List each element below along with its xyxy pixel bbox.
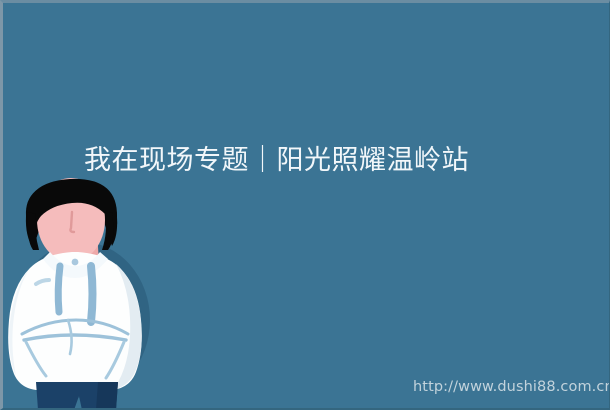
illustration-young-man-in-white-hoodie	[0, 170, 175, 410]
collar-button	[72, 259, 79, 266]
article-banner: 我在现场专题｜阳光照耀温岭站 http://www.dushi88.com.cn	[0, 0, 610, 410]
site-watermark-url: http://www.dushi88.com.cn	[413, 379, 610, 395]
left-drawstring	[58, 266, 60, 312]
pants-shadow	[96, 382, 118, 410]
page-title: 我在现场专题｜阳光照耀温岭站	[84, 143, 554, 179]
right-drawstring	[91, 266, 93, 322]
